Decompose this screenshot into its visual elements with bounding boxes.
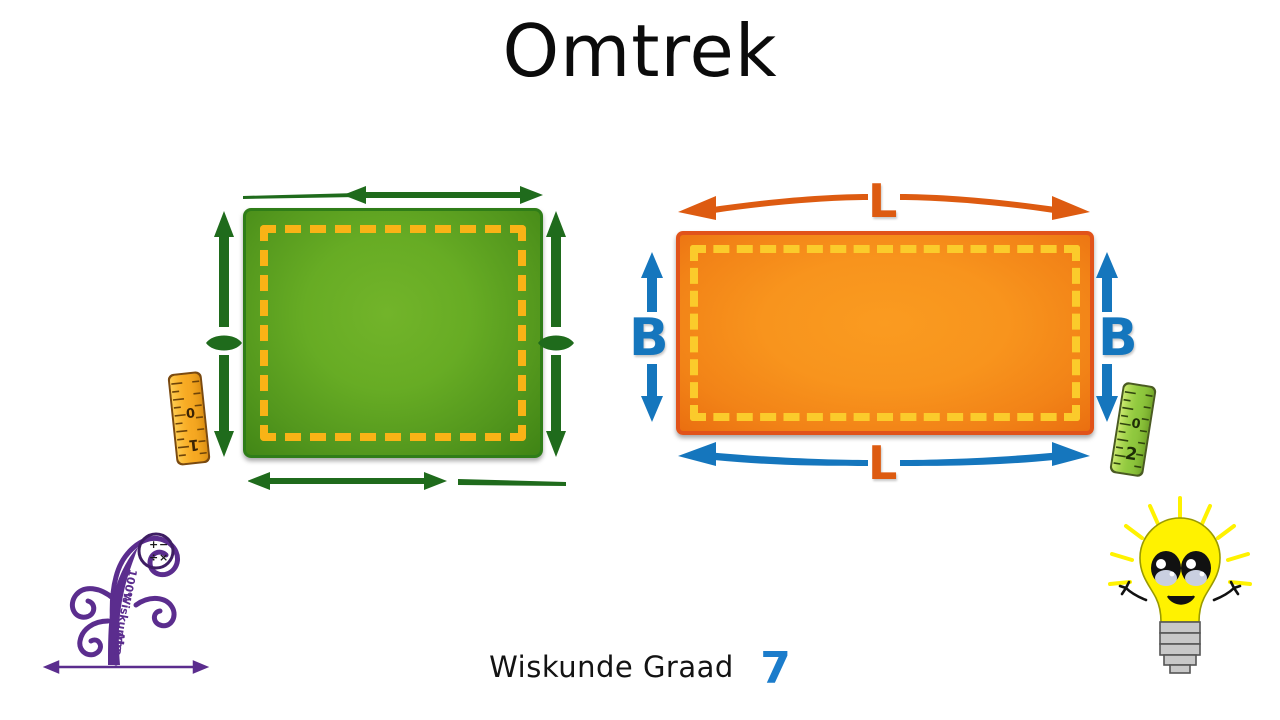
rect-right-breadth-label: B bbox=[1098, 312, 1138, 364]
ruler-icon-right: 0 2 bbox=[1104, 378, 1168, 483]
svg-text:1: 1 bbox=[188, 436, 200, 455]
logo-symbol-times: × bbox=[159, 551, 168, 564]
ruler-icon-left: 0 1 bbox=[162, 366, 224, 471]
green-bottom-arrow-group bbox=[248, 458, 568, 500]
rect-top-length-label: L bbox=[868, 178, 897, 224]
footer: Wiskunde Graad 7 bbox=[0, 637, 1280, 688]
logo-symbol-divide: ÷ bbox=[149, 551, 158, 564]
logo-symbol-minus: − bbox=[159, 538, 168, 551]
footer-label: Wiskunde Graad bbox=[489, 650, 734, 684]
rect-bottom-length-label: L bbox=[868, 440, 897, 486]
logo-symbol-plus: + bbox=[149, 538, 158, 551]
green-square-dashed-perimeter bbox=[260, 225, 526, 441]
orange-rectangle-shape bbox=[676, 231, 1094, 435]
svg-text:0: 0 bbox=[185, 404, 196, 420]
green-square-shape bbox=[243, 208, 543, 458]
slide-canvas: Omtrek L bbox=[0, 0, 1280, 720]
footer-grade: 7 bbox=[760, 643, 791, 694]
rect-left-breadth-label: B bbox=[629, 312, 669, 364]
page-title: Omtrek bbox=[0, 14, 1280, 90]
orange-rectangle-dashed-perimeter bbox=[690, 245, 1080, 421]
green-right-arrow-group bbox=[537, 203, 581, 465]
green-top-arrow-group bbox=[238, 172, 558, 214]
